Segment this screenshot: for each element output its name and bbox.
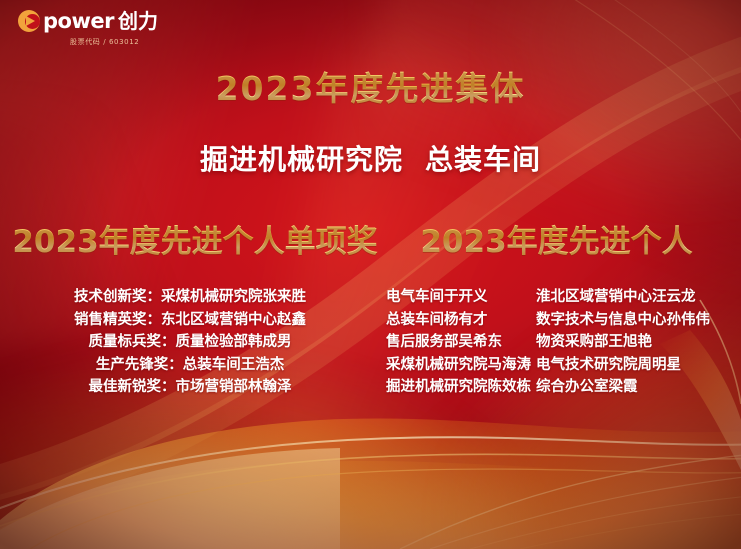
logo-chinese-name: 创力 (118, 11, 158, 31)
table-row: 售后服务部吴希东 物资采购部王旭艳 (386, 331, 741, 354)
section-heading-special-awards: 2023年度先进个人单项奖 (0, 216, 390, 261)
table-row: 采煤机械研究院马海涛 电气技术研究院周明星 (386, 354, 741, 377)
winner-name: 掘进机械研究院陈效栋 (386, 376, 536, 399)
list-item: 销售精英奖：东北区域营销中心赵鑫 (74, 309, 306, 332)
award-lists: 技术创新奖：采煤机械研究院张来胜 销售精英奖：东北区域营销中心赵鑫 质量标兵奖：… (0, 286, 741, 399)
winner-name: 电气技术研究院周明星 (536, 354, 741, 377)
table-row: 电气车间于开义 淮北区域营销中心汪云龙 (386, 286, 741, 309)
winner-name: 采煤机械研究院马海涛 (386, 354, 536, 377)
table-row: 掘进机械研究院陈效栋 综合办公室梁霞 (386, 376, 741, 399)
list-item: 生产先锋奖：总装车间王浩杰 (96, 354, 285, 377)
section-headings: 2023年度先进个人单项奖 2023年度先进个人 (0, 216, 741, 261)
honored-teams: 掘进机械研究院总装车间 (0, 138, 741, 178)
table-row: 总装车间杨有才 数字技术与信息中心孙伟伟 (386, 309, 741, 332)
logo-wordmark: power (43, 11, 114, 32)
advanced-individual-list: 电气车间于开义 淮北区域营销中心汪云龙 总装车间杨有才 数字技术与信息中心孙伟伟… (380, 286, 741, 399)
honored-team-2: 总装车间 (425, 143, 541, 176)
section-heading-advanced-individuals: 2023年度先进个人 (390, 216, 741, 261)
special-award-list: 技术创新奖：采煤机械研究院张来胜 销售精英奖：东北区域营销中心赵鑫 质量标兵奖：… (0, 286, 380, 399)
winner-name: 淮北区域营销中心汪云龙 (536, 286, 741, 309)
winner-name: 物资采购部王旭艳 (536, 331, 741, 354)
list-item: 质量标兵奖：质量检验部韩成男 (89, 331, 292, 354)
winner-name: 售后服务部吴希东 (386, 331, 536, 354)
winner-name: 电气车间于开义 (386, 286, 536, 309)
honored-team-1: 掘进机械研究院 (200, 143, 403, 176)
page-title: 2023年度先进集体 (0, 62, 741, 110)
list-item: 技术创新奖：采煤机械研究院张来胜 (74, 286, 306, 309)
power-circle-icon (18, 10, 40, 32)
winner-name: 数字技术与信息中心孙伟伟 (536, 309, 741, 332)
list-item: 最佳新锐奖：市场营销部林翰泽 (89, 376, 292, 399)
winner-name: 总装车间杨有才 (386, 309, 536, 332)
poster-content: power 创力 股票代码 / 603012 2023年度先进集体 掘进机械研究… (0, 0, 741, 549)
winner-name: 综合办公室梁霞 (536, 376, 741, 399)
logo-row: power 创力 (18, 10, 198, 32)
brand-logo: power 创力 股票代码 / 603012 (18, 10, 198, 47)
award-poster: power 创力 股票代码 / 603012 2023年度先进集体 掘进机械研究… (0, 0, 741, 549)
stock-code-label: 股票代码 / 603012 (70, 37, 198, 47)
